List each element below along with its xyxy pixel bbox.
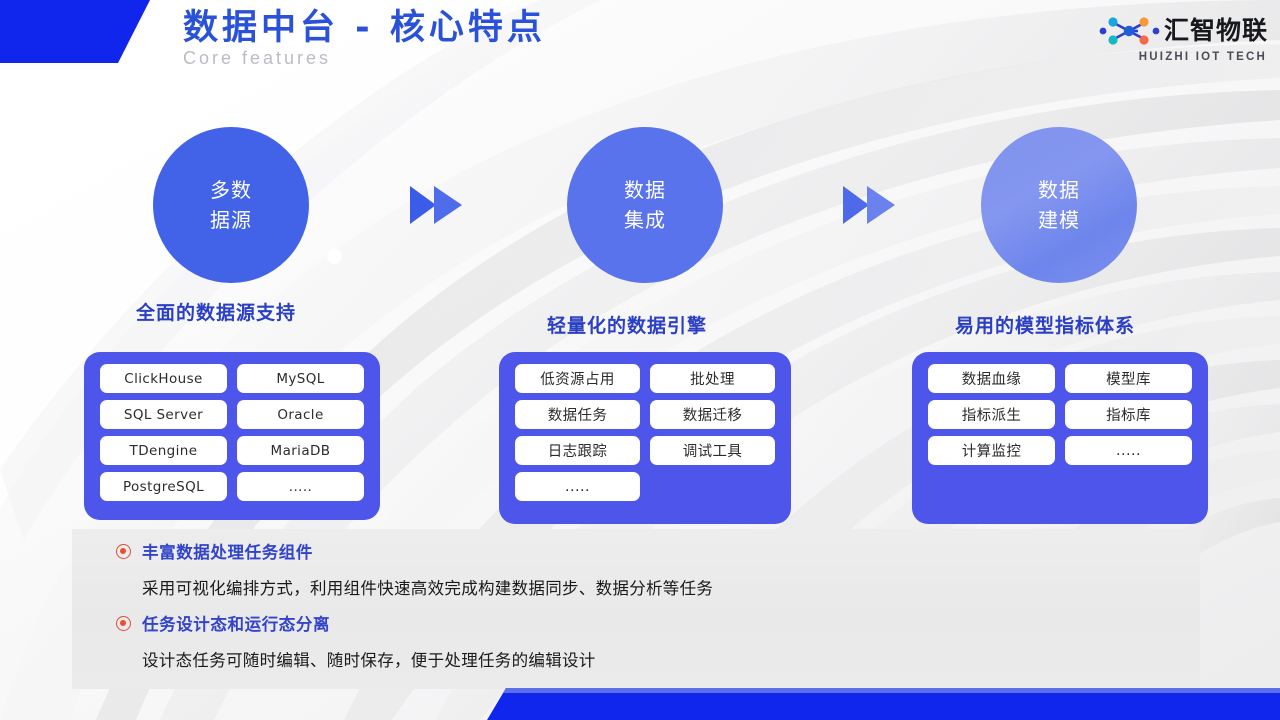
tag-item[interactable]: 计算监控 bbox=[928, 436, 1055, 465]
flow-step-label-line2: 建模 bbox=[1038, 205, 1080, 235]
tag-slot-empty bbox=[928, 472, 1055, 501]
flow-step-label-line1: 数据 bbox=[1038, 175, 1080, 205]
tag-item[interactable]: MariaDB bbox=[237, 436, 364, 465]
tag-item[interactable]: 数据迁移 bbox=[650, 400, 775, 429]
tag-item[interactable]: 日志跟踪 bbox=[515, 436, 640, 465]
double-triangle-right-icon bbox=[410, 182, 472, 228]
tag-item[interactable]: 模型库 bbox=[1065, 364, 1192, 393]
logo-name-en: HUIZHI IOT TECH bbox=[1139, 51, 1267, 63]
feature-panel: 丰富数据处理任务组件 采用可视化编排方式，利用组件快速高效完成构建数据同步、数据… bbox=[72, 529, 1200, 689]
flow-step-circle-data-integration[interactable]: 数据 集成 bbox=[567, 127, 723, 283]
tag-grid: 低资源占用 批处理 数据任务 数据迁移 日志跟踪 调试工具 ..... bbox=[515, 364, 775, 501]
tag-item[interactable]: 指标库 bbox=[1065, 400, 1192, 429]
tag-slot-empty bbox=[1065, 472, 1192, 501]
tag-slot-empty bbox=[650, 472, 775, 501]
feature-description: 采用可视化编排方式，利用组件快速高效完成构建数据同步、数据分析等任务 bbox=[142, 575, 713, 599]
tag-item[interactable]: MySQL bbox=[237, 364, 364, 393]
flow-step-circle-data-source[interactable]: 多数 据源 bbox=[153, 127, 309, 283]
brand-logo: 汇智物联 HUIZHI IOT TECH bbox=[1098, 14, 1268, 63]
tag-item-more[interactable]: ..... bbox=[515, 472, 640, 501]
flow-step-circle-data-modeling[interactable]: 数据 建模 bbox=[981, 127, 1137, 283]
flow-step-label-line1: 数据 bbox=[624, 175, 666, 205]
bullseye-bullet-icon bbox=[116, 616, 131, 631]
tag-item[interactable]: 指标派生 bbox=[928, 400, 1055, 429]
feature-description: 设计态任务可随时编辑、随时保存，便于处理任务的编辑设计 bbox=[142, 647, 596, 671]
tag-grid: ClickHouse MySQL SQL Server Oracle TDeng… bbox=[100, 364, 364, 501]
data-source-card: ClickHouse MySQL SQL Server Oracle TDeng… bbox=[84, 352, 380, 520]
feature-title: 任务设计态和运行态分离 bbox=[142, 611, 330, 635]
page-title: 数据中台 - 核心特点 bbox=[183, 6, 546, 50]
flow-step-label-line2: 集成 bbox=[624, 205, 666, 235]
blue-parallelogram-corner-icon bbox=[0, 0, 150, 63]
bullseye-bullet-icon bbox=[116, 544, 131, 559]
feature-head: 任务设计态和运行态分离 bbox=[116, 611, 596, 635]
tag-item-more[interactable]: ..... bbox=[1065, 436, 1192, 465]
page-subtitle: Core features bbox=[183, 48, 546, 69]
section-caption-data-model: 易用的模型指标体系 bbox=[955, 311, 1135, 338]
section-caption-data-source: 全面的数据源支持 bbox=[136, 298, 296, 325]
slide-header: 数据中台 - 核心特点 Core features 汇智物联 HUIZHI IO… bbox=[0, 0, 1280, 78]
tag-item[interactable]: 批处理 bbox=[650, 364, 775, 393]
tag-item[interactable]: ClickHouse bbox=[100, 364, 227, 393]
logo-name-cn: 汇智物联 bbox=[1164, 18, 1268, 44]
blue-parallelogram-footer-icon bbox=[0, 688, 1280, 720]
tag-item[interactable]: 低资源占用 bbox=[515, 364, 640, 393]
data-model-card: 数据血缘 模型库 指标派生 指标库 计算监控 ..... bbox=[912, 352, 1208, 524]
section-caption-data-engine: 轻量化的数据引擎 bbox=[547, 311, 707, 338]
double-triangle-right-icon bbox=[843, 182, 905, 228]
feature-head: 丰富数据处理任务组件 bbox=[116, 539, 713, 563]
tag-item[interactable]: 数据血缘 bbox=[928, 364, 1055, 393]
logo-row: 汇智物联 bbox=[1098, 14, 1268, 48]
tag-grid: 数据血缘 模型库 指标派生 指标库 计算监控 ..... bbox=[928, 364, 1192, 501]
molecule-network-icon bbox=[1098, 14, 1160, 48]
title-block: 数据中台 - 核心特点 Core features bbox=[183, 6, 546, 69]
tag-item[interactable]: TDengine bbox=[100, 436, 227, 465]
flow-step-label-line2: 据源 bbox=[210, 205, 252, 235]
flow-step-label-line1: 多数 bbox=[210, 175, 252, 205]
white-accent-dot-icon bbox=[327, 249, 342, 264]
tag-item[interactable]: 调试工具 bbox=[650, 436, 775, 465]
tag-item[interactable]: PostgreSQL bbox=[100, 472, 227, 501]
tag-item-more[interactable]: ..... bbox=[237, 472, 364, 501]
feature-item: 任务设计态和运行态分离 设计态任务可随时编辑、随时保存，便于处理任务的编辑设计 bbox=[116, 611, 596, 671]
tag-item[interactable]: 数据任务 bbox=[515, 400, 640, 429]
tag-item[interactable]: Oracle bbox=[237, 400, 364, 429]
data-engine-card: 低资源占用 批处理 数据任务 数据迁移 日志跟踪 调试工具 ..... bbox=[499, 352, 791, 524]
tag-item[interactable]: SQL Server bbox=[100, 400, 227, 429]
feature-title: 丰富数据处理任务组件 bbox=[142, 539, 313, 563]
feature-item: 丰富数据处理任务组件 采用可视化编排方式，利用组件快速高效完成构建数据同步、数据… bbox=[116, 539, 713, 599]
